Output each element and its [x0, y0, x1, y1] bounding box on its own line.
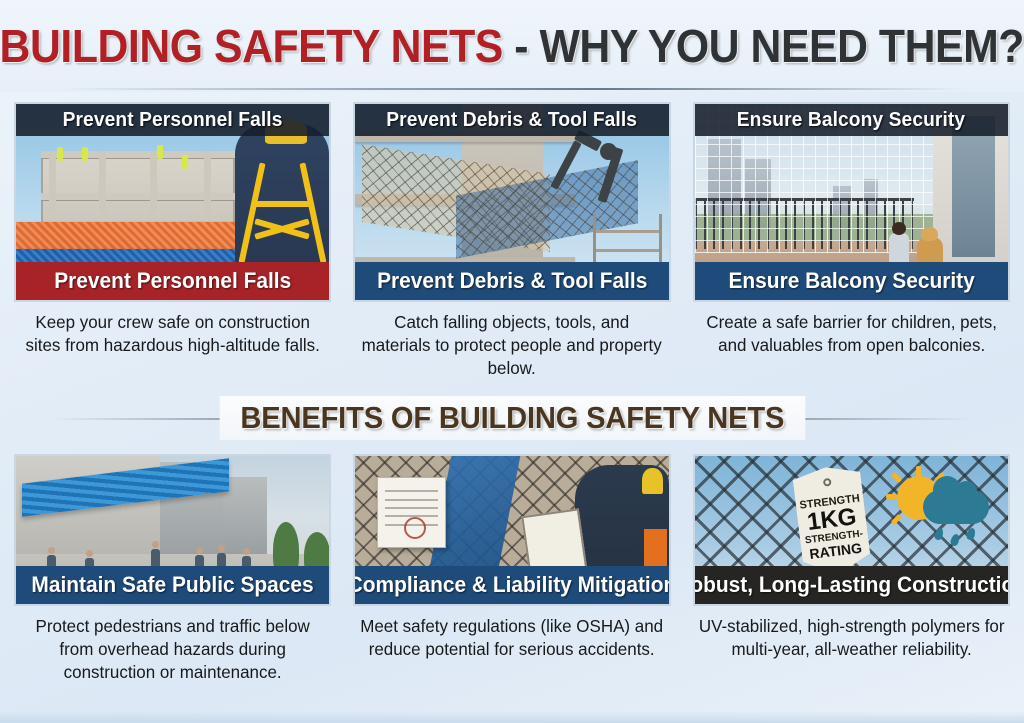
- card-prevent-personnel-falls[interactable]: Prevent Personnel Falls Prevent Personne…: [14, 102, 331, 380]
- card1-image: Prevent Personnel Falls Prevent Personne…: [14, 102, 331, 302]
- card3-image: Ensure Balcony Security Ensure Balcony S…: [693, 102, 1010, 302]
- infographic-page: BUILDING SAFETY NETS - WHY YOU NEED THEM…: [0, 0, 1024, 723]
- page-title-red: BUILDING SAFETY NETS: [0, 20, 503, 72]
- benefits-section-divider: BENEFITS OF BUILDING SAFETY NETS: [0, 390, 1024, 446]
- card1-overlay-label: Prevent Personnel Falls: [63, 109, 283, 132]
- card1-caption-bar: Prevent Personnel Falls: [16, 262, 329, 300]
- rain-drop-icon: [966, 527, 977, 541]
- card3-overlay-label: Ensure Balcony Security: [737, 109, 965, 132]
- card1-body-text: Keep your crew safe on construction site…: [19, 311, 327, 357]
- title-divider: [60, 88, 964, 90]
- card5-image: Compliance & Liability Mitigation: [353, 454, 670, 606]
- card3-body-text: Create a safe barrier for children, pets…: [697, 311, 1005, 357]
- card-robust-long-lasting-construction[interactable]: STRENGTH 1KG STRENGTH- RATING: [693, 454, 1010, 684]
- card1-overlay-label-bar: Prevent Personnel Falls: [16, 104, 329, 136]
- card4-body-text: Protect pedestrians and traffic below fr…: [19, 615, 327, 684]
- card5-caption-text: Compliance & Liability Mitigation: [353, 572, 670, 598]
- card2-overlay-label: Prevent Debris & Tool Falls: [387, 109, 638, 132]
- card-ensure-balcony-security[interactable]: Ensure Balcony Security Ensure Balcony S…: [693, 102, 1010, 380]
- tag-hole-icon: [823, 477, 832, 486]
- worker-figure-icon: [182, 155, 188, 169]
- rain-drop-icon: [950, 533, 961, 547]
- worker-figure-icon: [82, 147, 88, 161]
- certificate-stamp-icon: [404, 517, 426, 539]
- card2-caption-bar: Prevent Debris & Tool Falls: [355, 262, 668, 300]
- card-compliance-liability-mitigation[interactable]: Compliance & Liability Mitigation Meet s…: [353, 454, 670, 684]
- card6-body-text: UV-stabilized, high-strength polymers fo…: [697, 615, 1005, 661]
- card3-caption-bar: Ensure Balcony Security: [695, 262, 1008, 300]
- compliance-certificate-illustration: [377, 477, 446, 548]
- card6-caption-bar: Robust, Long-Lasting Construction: [695, 566, 1008, 604]
- card-prevent-debris-tool-falls[interactable]: Prevent Debris & Tool Falls Prevent Debr…: [353, 102, 670, 380]
- card1-caption-text: Prevent Personnel Falls: [54, 268, 291, 294]
- card4-image: Maintain Safe Public Spaces: [14, 454, 331, 606]
- background-building-illustration: [223, 477, 267, 554]
- card3-caption-text: Ensure Balcony Security: [728, 268, 974, 294]
- page-title-dark: - WHY YOU NEED THEM?: [515, 20, 1024, 72]
- glass-door-illustration: [952, 116, 996, 257]
- bottom-card-row: Maintain Safe Public Spaces Protect pede…: [0, 454, 1024, 684]
- card6-image: STRENGTH 1KG STRENGTH- RATING: [693, 454, 1010, 606]
- card2-image: Prevent Debris & Tool Falls Prevent Debr…: [353, 102, 670, 302]
- card4-caption-bar: Maintain Safe Public Spaces: [16, 566, 329, 604]
- hard-hat-icon: [642, 468, 663, 494]
- card2-overlay-label-bar: Prevent Debris & Tool Falls: [355, 104, 668, 136]
- card3-overlay-label-bar: Ensure Balcony Security: [695, 104, 1008, 136]
- worker-figure-icon: [57, 147, 63, 161]
- card2-caption-text: Prevent Debris & Tool Falls: [377, 268, 647, 294]
- orange-safety-net-illustration: [14, 222, 242, 252]
- benefits-heading: BENEFITS OF BUILDING SAFETY NETS: [219, 396, 804, 440]
- weather-icon-group: [889, 468, 989, 552]
- page-header: BUILDING SAFETY NETS - WHY YOU NEED THEM…: [0, 0, 1024, 92]
- top-card-row: Prevent Personnel Falls Prevent Personne…: [0, 102, 1024, 380]
- card5-body-text: Meet safety regulations (like OSHA) and …: [358, 615, 666, 661]
- worker-figure-icon: [157, 145, 163, 159]
- card5-caption-bar: Compliance & Liability Mitigation: [355, 566, 668, 604]
- card2-body-text: Catch falling objects, tools, and materi…: [358, 311, 666, 380]
- page-title: BUILDING SAFETY NETS - WHY YOU NEED THEM…: [0, 23, 1024, 69]
- bottom-gradient-edge: [0, 711, 1024, 723]
- card6-caption-text: Robust, Long-Lasting Construction: [693, 572, 1010, 598]
- rain-cloud-icon: [923, 490, 989, 524]
- card-maintain-safe-public-spaces[interactable]: Maintain Safe Public Spaces Protect pede…: [14, 454, 331, 684]
- card4-caption-text: Maintain Safe Public Spaces: [32, 572, 314, 598]
- rain-drop-icon: [934, 527, 945, 541]
